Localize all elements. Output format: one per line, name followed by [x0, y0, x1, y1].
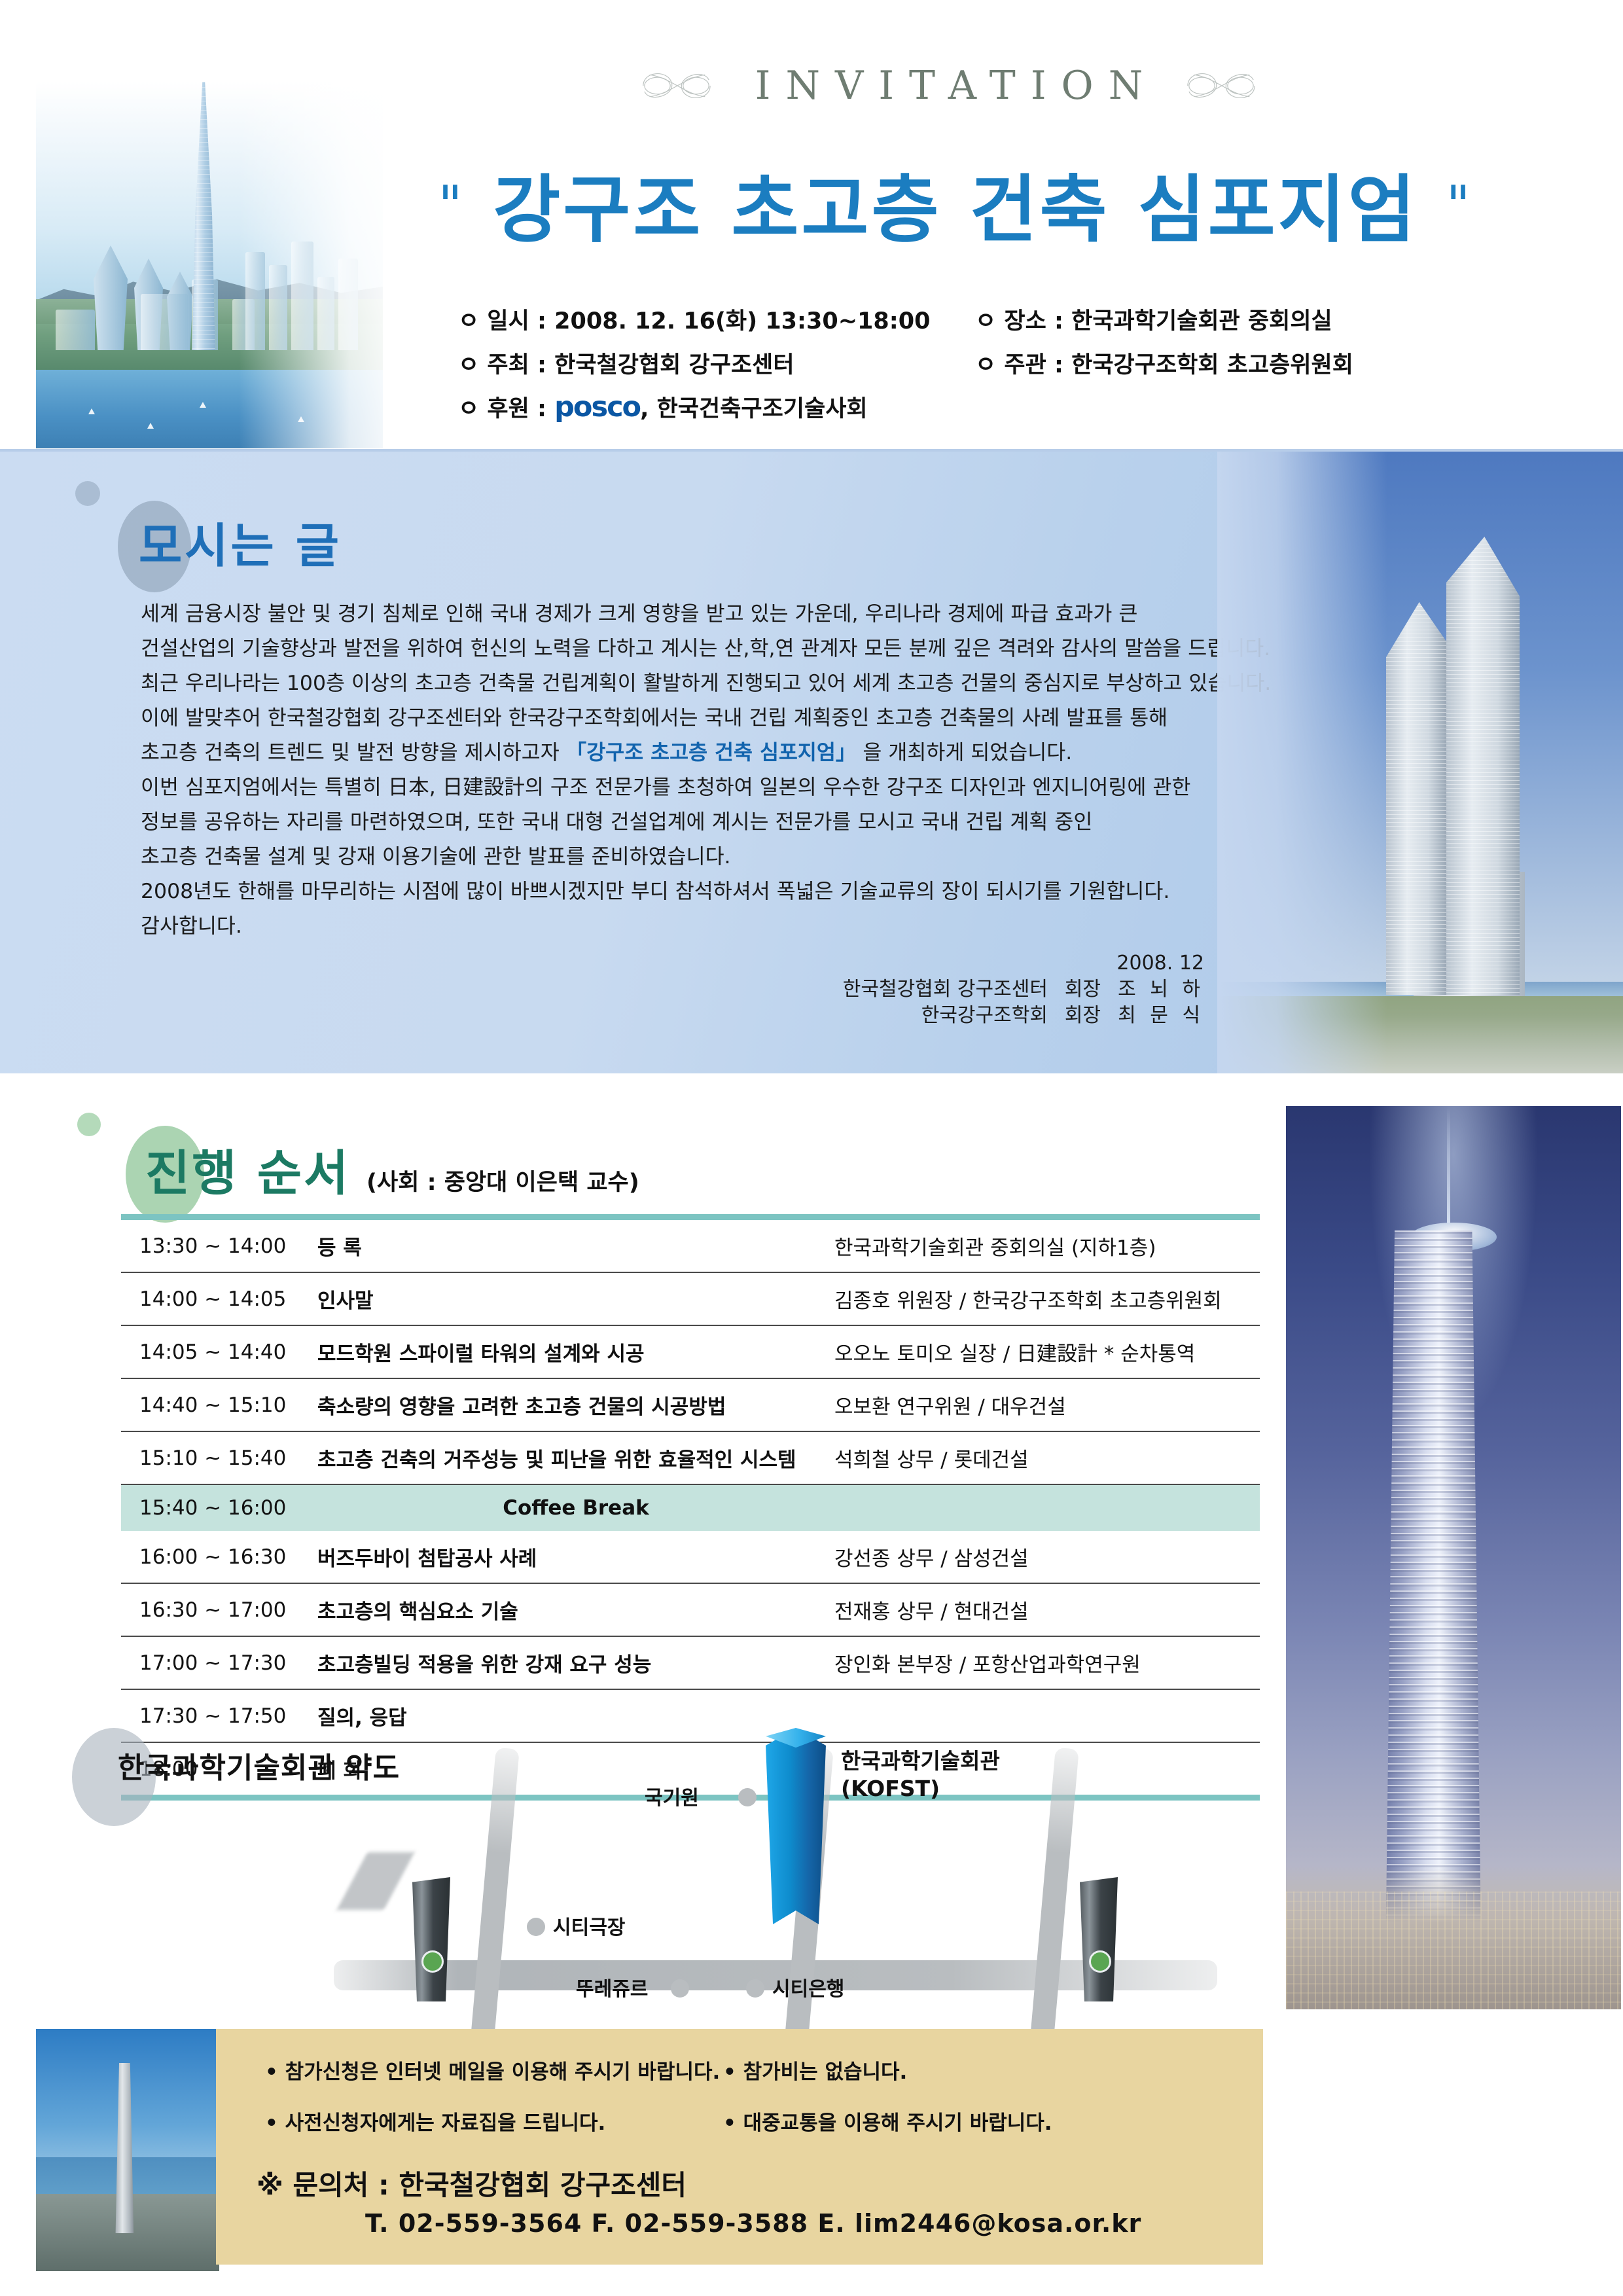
block-building-1	[56, 310, 95, 350]
greeting-line-2: 건설산업의 기술향상과 발전을 위하여 헌신의 노력을 다하고 계시는 산,학,…	[141, 632, 1240, 666]
greeting-line-1: 세계 금융시장 불안 및 경기 침체로 인해 국내 경제가 크게 영향을 받고 …	[141, 597, 1240, 632]
row-speaker: 전재홍 상무 / 현대건설	[834, 1583, 1260, 1636]
row-topic: 모드학원 스파이럴 타워의 설계와 시공	[317, 1325, 834, 1378]
table-row: 17:00 ~ 17:30 초고층빌딩 적용을 위한 강재 요구 성능 장인화 …	[121, 1636, 1260, 1689]
row-speaker	[834, 1484, 1260, 1531]
night-tower-image	[1286, 1106, 1621, 2009]
row-time: 13:30 ~ 14:00	[121, 1217, 317, 1273]
row-time: 15:10 ~ 15:40	[121, 1431, 317, 1484]
invitation-word: INVITATION	[740, 63, 1158, 109]
info-box: 참가신청은 인터넷 메일을 이용해 주시기 바랍니다. 참가비는 없습니다. 사…	[216, 2029, 1263, 2265]
greeting-line-6: 이번 심포지엄에서는 특별히 日本, 日建設計의 구조 전문가를 초청하여 일본…	[141, 770, 1240, 805]
signature-role-1: 회장	[1065, 977, 1101, 1003]
table-row: 14:05 ~ 14:40 모드학원 스파이럴 타워의 설계와 시공 오오노 토…	[121, 1325, 1260, 1378]
row-time: 14:40 ~ 15:10	[121, 1378, 317, 1431]
info-bullets: 참가신청은 인터넷 메일을 이용해 주시기 바랍니다. 참가비는 없습니다. 사…	[265, 2055, 1142, 2136]
poi-dot-city-theater	[527, 1918, 545, 1936]
row-time: 16:00 ~ 16:30	[121, 1531, 317, 1583]
kofst-label-line1: 한국과학기술회관	[841, 1748, 1000, 1775]
row-topic: 축소량의 영향을 고려한 초고층 건물의 시공방법	[317, 1378, 834, 1431]
title-open-quote: "	[438, 175, 465, 236]
greeting-tower-left	[1386, 602, 1446, 995]
signature-org-1: 한국철강협회 강구조센터	[843, 977, 1048, 1003]
greeting-line-5-before: 초고층 건축의 트렌드 및 발전 방향을 제시하고자	[141, 741, 566, 764]
poi-label-tous-les-jours: 뚜레쥬르	[576, 1973, 648, 2001]
meta-sponsor-suffix: , 한국건축구조기술사회	[640, 396, 867, 422]
greeting-line-8: 초고층 건축물 설계 및 강재 이용기술에 관한 발표를 준비하였습니다.	[141, 840, 1240, 874]
invitation-banner: INVITATION	[419, 62, 1479, 109]
meta-host: ㅇ 주최 : 한국철강협회 강구조센터	[458, 346, 975, 380]
row-topic: Coffee Break	[317, 1484, 834, 1531]
poi-dot-tous-les-jours	[671, 1979, 689, 1998]
subway-marker-gangnam-icon	[412, 1877, 450, 2001]
flourish-left-icon	[638, 62, 715, 109]
poster-title: " 강구조 초고층 건축 심포지엄 "	[366, 151, 1544, 257]
greeting-line-10: 감사합니다.	[141, 909, 1240, 944]
greeting-line-3: 최근 우리나라는 100층 이상의 초고층 건축물 건립계획이 활발하게 진행되…	[141, 666, 1240, 701]
block-building-2	[141, 294, 188, 350]
greeting-signature: 2008. 12 한국철강협회 강구조센터 회장 조 뇌 하 한국강구조학회 회…	[843, 950, 1204, 1029]
kofst-building-icon	[766, 1728, 826, 1924]
row-time: 15:40 ~ 16:00	[121, 1484, 317, 1531]
night-city-lights	[1286, 1892, 1621, 2009]
row-speaker: 한국과학기술회관 중회의실 (지하1층)	[834, 1217, 1260, 1273]
row-time: 16:30 ~ 17:00	[121, 1583, 317, 1636]
poi-label-citibank: 시티은행	[772, 1973, 844, 2001]
greeting-symposium-highlight: 「강구조 초고층 건축 심포지엄」	[566, 741, 857, 764]
poi-dot-citibank	[746, 1979, 764, 1998]
row-topic: 초고층빌딩 적용을 위한 강재 요구 성능	[317, 1636, 834, 1689]
greeting-line-4: 이에 발맞추어 한국철강협회 강구조센터와 한국강구조학회에서는 국내 건립 계…	[141, 701, 1240, 736]
signature-row-1: 한국철강협회 강구조센터 회장 조 뇌 하	[843, 977, 1204, 1003]
kofst-label-line2: (KOFST)	[841, 1775, 1000, 1803]
row-speaker: 오보환 연구위원 / 대우건설	[834, 1378, 1260, 1431]
header-skyline-image	[36, 82, 383, 448]
row-topic: 초고층 건축의 거주성능 및 피난을 위한 효율적인 시스템	[317, 1431, 834, 1484]
greeting-line-9: 2008년도 한해를 마무리하는 시점에 많이 바쁘시겠지만 부디 참석하셔서 …	[141, 874, 1240, 909]
flourish-right-icon	[1183, 62, 1260, 109]
title-text: 강구조 초고층 건축 심포지엄	[493, 168, 1418, 253]
row-speaker: 강선종 상무 / 삼성건설	[834, 1531, 1260, 1583]
greeting-line-5: 초고층 건축의 트렌드 및 발전 방향을 제시하고자 「강구조 초고층 건축 심…	[141, 736, 1240, 770]
greeting-tower-right	[1446, 537, 1520, 995]
poi-label-city-theater: 시티극장	[553, 1911, 625, 1940]
row-topic: 등 록	[317, 1217, 834, 1273]
table-row-coffee-break: 15:40 ~ 16:00 Coffee Break	[121, 1484, 1260, 1531]
haze-overlay	[239, 82, 383, 448]
greeting-tower-left-floors	[1386, 602, 1446, 995]
info-bullet-3: 사전신청자에게는 자료집을 드립니다.	[265, 2106, 723, 2136]
row-speaker: 석희철 상무 / 롯데건설	[834, 1431, 1260, 1484]
info-bullet-1: 참가신청은 인터넷 메일을 이용해 주시기 바랍니다.	[265, 2055, 723, 2085]
row-time: 17:30 ~ 17:50	[121, 1689, 317, 1742]
posco-logo: posco	[554, 391, 640, 423]
signature-role-2: 회장	[1065, 1003, 1101, 1029]
table-row: 15:10 ~ 15:40 초고층 건축의 거주성능 및 피난을 위한 효율적인…	[121, 1431, 1260, 1484]
table-row: 14:40 ~ 15:10 축소량의 영향을 고려한 초고층 건물의 시공방법 …	[121, 1378, 1260, 1431]
table-row: 14:00 ~ 14:05 인사말 김종호 위원장 / 한국강구조학회 초고층위…	[121, 1272, 1260, 1325]
program-moderator: (사회 : 중앙대 이은택 교수)	[366, 1164, 639, 1197]
table-row: 16:30 ~ 17:00 초고층의 핵심요소 기술 전재홍 상무 / 현대건설	[121, 1583, 1260, 1636]
contact-details: T. 02-559-3564 F. 02-559-3588 E. lim2446…	[365, 2209, 1141, 2238]
meta-date: ㅇ 일시 : 2008. 12. 16(화) 13:30~18:00	[458, 302, 975, 336]
footer-tower-photo	[36, 2029, 219, 2271]
table-row: 16:00 ~ 16:30 버즈두바이 첨탑공사 사례 강선종 상무 / 삼성건…	[121, 1531, 1260, 1583]
row-time: 17:00 ~ 17:30	[121, 1636, 317, 1689]
greeting-line-5-after: 을 개최하게 되었습니다.	[856, 741, 1072, 764]
event-meta: ㅇ 일시 : 2008. 12. 16(화) 13:30~18:00 ㅇ 장소 …	[458, 302, 1505, 423]
info-bullet-2: 참가비는 없습니다.	[723, 2055, 1142, 2085]
row-topic: 초고층의 핵심요소 기술	[317, 1583, 834, 1636]
greeting-accent-dot	[75, 481, 100, 506]
greeting-image-fade	[1217, 452, 1387, 1073]
greeting-line-7: 정보를 공유하는 자리를 마련하였으며, 또한 국내 대형 건설업계에 계시는 …	[141, 805, 1240, 840]
meta-venue: ㅇ 장소 : 한국과학기술회관 중회의실	[975, 302, 1505, 336]
greeting-tower-image	[1217, 452, 1623, 1073]
greeting-heading: 모시는 글	[139, 507, 342, 576]
row-speaker: 김종호 위원장 / 한국강구조학회 초고층위원회	[834, 1272, 1260, 1325]
signature-name-2: 최 문 식	[1118, 1003, 1204, 1029]
subway-marker-yeoksam-icon	[1080, 1877, 1118, 2001]
info-bullet-4: 대중교통을 이용해 주시기 바랍니다.	[723, 2106, 1142, 2136]
poi-label-gukgiwon: 국기원	[645, 1782, 699, 1810]
row-time: 14:05 ~ 14:40	[121, 1325, 317, 1378]
kofst-label: 한국과학기술회관 (KOFST)	[841, 1748, 1000, 1803]
row-topic: 인사말	[317, 1272, 834, 1325]
program-heading: 진행 순서	[145, 1134, 350, 1204]
table-row: 13:30 ~ 14:00 등 록 한국과학기술회관 중회의실 (지하1층)	[121, 1217, 1260, 1273]
row-speaker: 오오노 토미오 실장 / 日建設計 * 순차통역	[834, 1325, 1260, 1378]
title-close-quote: "	[1446, 175, 1473, 236]
signature-date: 2008. 12	[1116, 950, 1204, 977]
meta-organizer: ㅇ 주관 : 한국강구조학회 초고층위원회	[975, 346, 1505, 380]
greeting-body: 세계 금융시장 불안 및 경기 침체로 인해 국내 경제가 크게 영향을 받고 …	[141, 597, 1240, 944]
signature-name-1: 조 뇌 하	[1118, 977, 1204, 1003]
meta-sponsor: ㅇ 후원 : posco, 한국건축구조기술사회	[458, 390, 1505, 423]
signature-org-2: 한국강구조학회	[921, 1003, 1048, 1029]
contact-title: ※ 문의처 : 한국철강협회 강구조센터	[257, 2163, 687, 2203]
row-time: 14:00 ~ 14:05	[121, 1272, 317, 1325]
meta-sponsor-prefix: ㅇ 후원 :	[458, 396, 554, 422]
greeting-tower-right-floors	[1446, 537, 1520, 995]
row-speaker: 장인화 본부장 / 포항산업과학연구원	[834, 1636, 1260, 1689]
poster-header: INVITATION " 강구조 초고층 건축 심포지엄 " ㅇ 일시 : 20…	[0, 0, 1623, 452]
kofst-building-shadow	[337, 1852, 415, 1910]
kofst-building-body	[766, 1728, 826, 1924]
poi-dot-gukgiwon	[738, 1788, 757, 1806]
row-topic: 버즈두바이 첨탑공사 사례	[317, 1531, 834, 1583]
program-accent-dot	[77, 1113, 101, 1136]
signature-row-2: 한국강구조학회 회장 최 문 식	[843, 1003, 1204, 1029]
signature-date-row: 2008. 12	[843, 950, 1204, 977]
